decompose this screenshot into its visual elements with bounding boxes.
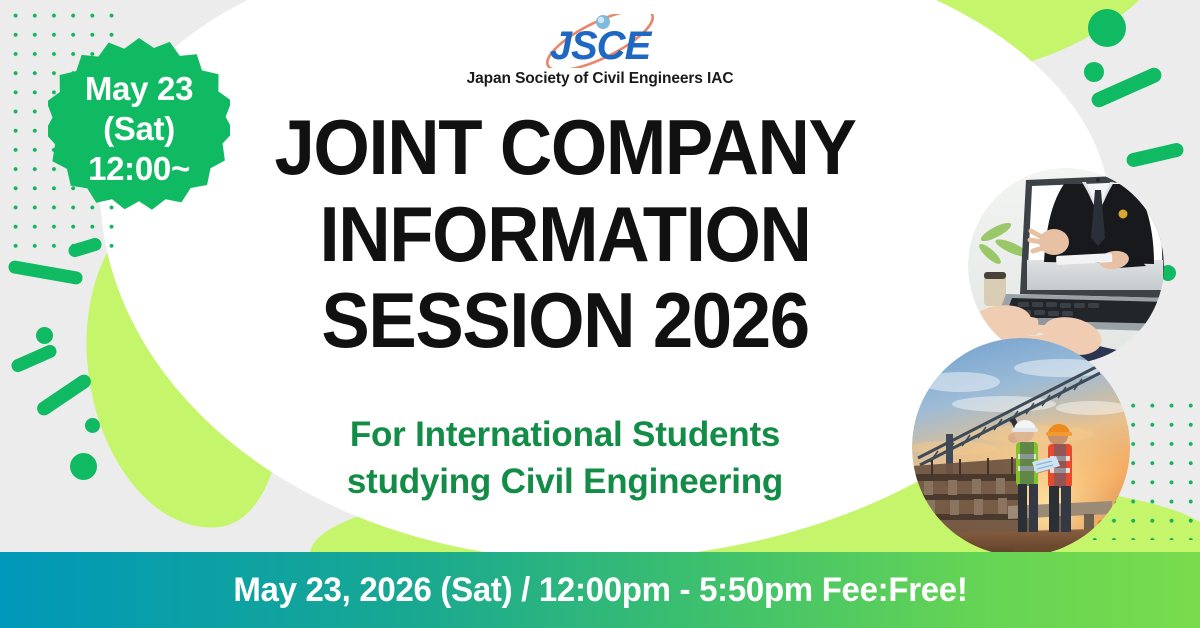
dash-decoration-right-2 [1125,142,1185,169]
dot-decoration-left-2 [85,418,100,433]
dash-decoration-left-2 [7,260,83,286]
jsce-logo-subtitle: Japan Society of Civil Engineers IAC [0,70,1200,88]
dot-decoration-left-1 [36,327,53,344]
construction-site-photo [912,338,1130,556]
online-interview-photo [968,168,1164,364]
subtitle-line-1: For International Students [150,412,980,459]
page-title: JOINT COMPANY INFORMATION SESSION 2026 [150,104,980,364]
poster-canvas: May 23 (Sat) 12:00~ JSCE Japan Society o… [0,0,1200,628]
bottom-banner-text: May 23, 2026 (Sat) / 12:00pm - 5:50pm Fe… [233,571,967,610]
headline-line-1: JOINT COMPANY [179,104,951,191]
bottom-info-banner: May 23, 2026 (Sat) / 12:00pm - 5:50pm Fe… [0,552,1200,628]
dot-decoration-left-3 [70,453,97,480]
svg-text:JSCE: JSCE [550,24,653,68]
headline-line-3: SESSION 2026 [179,277,951,364]
headline-line-2: INFORMATION [179,191,951,278]
dash-decoration-left-3 [9,343,58,374]
jsce-logo-block: JSCE Japan Society of Civil Engineers IA… [0,14,1200,88]
subtitle-line-2: studying Civil Engineering [150,459,980,506]
jsce-logo-icon: JSCE [505,14,695,68]
page-subtitle: For International Students studying Civi… [150,412,980,506]
dash-decoration-left-4 [34,372,93,418]
